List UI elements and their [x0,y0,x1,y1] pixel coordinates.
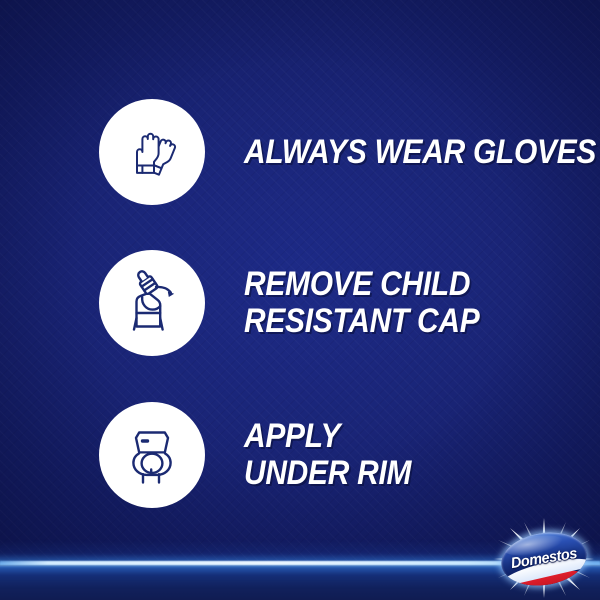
steps-list: ALWAYS WEAR GLOVES [0,0,600,530]
step-3-badge [99,402,205,508]
step-item-2: REMOVE CHILD RESISTANT CAP [99,250,512,356]
toilet-icon [119,422,185,488]
step-2-text: REMOVE CHILD RESISTANT CAP [244,266,479,339]
step-item-1: ALWAYS WEAR GLOVES [99,99,600,205]
step-3-text: APPLY UNDER RIM [244,418,411,491]
step-1-badge [99,99,205,205]
step-1-text: ALWAYS WEAR GLOVES [244,134,596,171]
logo-badge: Domestos [497,527,590,592]
bottle-cap-twist-icon [118,269,186,337]
step-2-badge [99,250,205,356]
step-item-3: APPLY UNDER RIM [99,402,434,508]
domestos-logo: Domestos [488,516,600,600]
logo-wordmark: Domestos [499,526,589,590]
gloves-icon [119,119,185,185]
instruction-poster: ALWAYS WEAR GLOVES [0,0,600,600]
